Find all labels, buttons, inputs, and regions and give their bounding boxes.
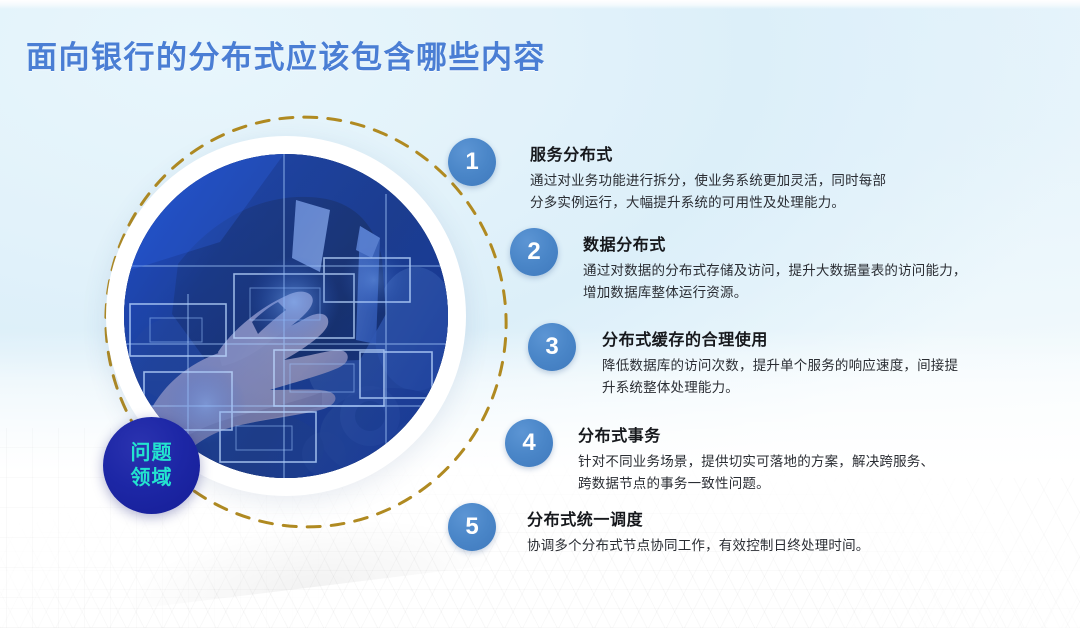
item-text-4: 分布式事务 针对不同业务场景，提供切实可落地的方案，解决跨服务、 跨数据节点的事… — [578, 422, 934, 495]
item-heading-1: 服务分布式 — [530, 141, 886, 165]
item-number-3[interactable]: 3 — [528, 323, 576, 371]
item-text-1: 服务分布式 通过对业务功能进行拆分，使业务系统更加灵活，同时每部 分多实例运行，… — [530, 141, 886, 214]
item-body-1: 通过对业务功能进行拆分，使业务系统更加灵活，同时每部 分多实例运行，大幅提升系统… — [530, 170, 886, 214]
page-title: 面向银行的分布式应该包含哪些内容 — [26, 32, 546, 77]
item-heading-5: 分布式统一调度 — [527, 506, 870, 530]
item-heading-3: 分布式缓存的合理使用 — [602, 326, 958, 350]
item-number-4[interactable]: 4 — [505, 419, 553, 467]
background-top-strip — [0, 0, 1080, 9]
badge-line-2: 领域 — [131, 466, 173, 491]
badge-line-1: 问题 — [131, 441, 173, 466]
item-text-2: 数据分布式 通过对数据的分布式存储及访问，提升大数据量表的访问能力， 增加数据库… — [583, 231, 967, 304]
item-heading-2: 数据分布式 — [583, 231, 967, 255]
item-body-3: 降低数据库的访问次数，提升单个服务的响应速度，间接提 升系统整体处理能力。 — [602, 355, 958, 399]
item-number-1[interactable]: 1 — [448, 138, 496, 186]
item-text-3: 分布式缓存的合理使用 降低数据库的访问次数，提升单个服务的响应速度，间接提 升系… — [602, 326, 958, 399]
item-number-5[interactable]: 5 — [448, 503, 496, 551]
item-body-2: 通过对数据的分布式存储及访问，提升大数据量表的访问能力， 增加数据库整体运行资源… — [583, 260, 967, 304]
item-heading-4: 分布式事务 — [578, 422, 934, 446]
slide-canvas: 面向银行的分布式应该包含哪些内容 — [0, 0, 1080, 628]
item-text-5: 分布式统一调度 协调多个分布式节点协同工作，有效控制日终处理时间。 — [527, 506, 870, 557]
item-number-2[interactable]: 2 — [510, 228, 558, 276]
item-body-5: 协调多个分布式节点协同工作，有效控制日终处理时间。 — [527, 535, 870, 557]
item-body-4: 针对不同业务场景，提供切实可落地的方案，解决跨服务、 跨数据节点的事务一致性问题… — [578, 451, 934, 495]
problem-domain-badge[interactable]: 问题 领域 — [103, 417, 200, 514]
